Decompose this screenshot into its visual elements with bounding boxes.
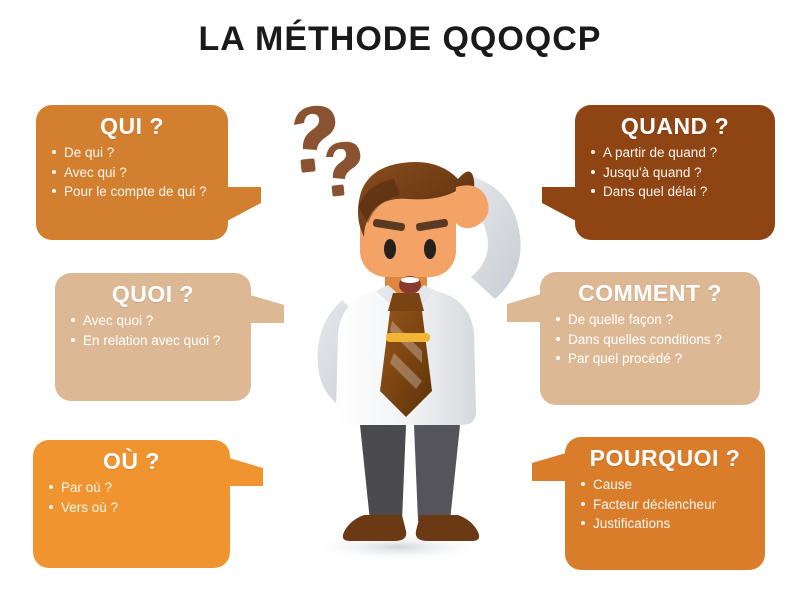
bubble-qui[interactable]: QUI ? De qui ? Avec qui ? Pour le compte… — [36, 105, 228, 240]
list-item: Vers où ? — [47, 498, 216, 517]
question-mark-small — [326, 142, 360, 197]
question-mark-large — [294, 106, 335, 173]
list-item: Avec qui ? — [50, 163, 214, 182]
shoe-left — [343, 515, 406, 541]
bubble-comment-list: De quelle façon ? Dans quelles condition… — [554, 310, 746, 367]
bubble-pourquoi-list: Cause Facteur déclencheur Justifications — [579, 475, 751, 532]
eye-left — [384, 239, 396, 259]
bubble-tail — [229, 458, 263, 486]
bubble-tail — [227, 187, 261, 221]
list-item: Dans quel délai ? — [589, 182, 761, 201]
infographic-canvas: LA MÉTHODE QQOQCP — [0, 0, 800, 600]
leg-right — [414, 425, 460, 521]
puzzled-man-illustration — [280, 95, 530, 575]
list-item: A partir de quand ? — [589, 143, 761, 162]
bubble-quoi-list: Avec quoi ? En relation avec quoi ? — [69, 311, 237, 349]
bubble-quoi-title: QUOI ? — [69, 281, 237, 307]
tooth — [401, 277, 419, 283]
bubble-tail — [250, 295, 284, 323]
list-item: Facteur déclencheur — [579, 495, 751, 514]
page-title: LA MÉTHODE QQOQCP — [0, 20, 800, 59]
bubble-qui-title: QUI ? — [50, 113, 214, 139]
bubble-pourquoi-title: POURQUOI ? — [579, 445, 751, 471]
list-item: Par quel procédé ? — [554, 349, 746, 368]
bubble-quand[interactable]: QUAND ? A partir de quand ? Jusqu'à quan… — [575, 105, 775, 240]
bubble-qui-list: De qui ? Avec qui ? Pour le compte de qu… — [50, 143, 214, 200]
eye-right — [424, 239, 436, 259]
list-item: De quelle façon ? — [554, 310, 746, 329]
list-item: Cause — [579, 475, 751, 494]
list-item: Pour le compte de qui ? — [50, 182, 214, 201]
shoe-right — [416, 515, 479, 541]
list-item: De qui ? — [50, 143, 214, 162]
list-item: Dans quelles conditions ? — [554, 330, 746, 349]
bubble-pourquoi[interactable]: POURQUOI ? Cause Facteur déclencheur Jus… — [565, 437, 765, 570]
bubble-tail — [532, 453, 566, 481]
bubble-quand-title: QUAND ? — [589, 113, 761, 139]
list-item: En relation avec quoi ? — [69, 331, 237, 350]
list-item: Jusqu'à quand ? — [589, 163, 761, 182]
list-item: Justifications — [579, 514, 751, 533]
list-item: Par où ? — [47, 478, 216, 497]
bubble-ou-list: Par où ? Vers où ? — [47, 478, 216, 516]
tie-knot — [388, 293, 424, 311]
leg-left — [360, 425, 406, 521]
list-item: Avec quoi ? — [69, 311, 237, 330]
tie-clip — [386, 333, 430, 342]
bubble-quand-list: A partir de quand ? Jusqu'à quand ? Dans… — [589, 143, 761, 200]
bubble-comment[interactable]: COMMENT ? De quelle façon ? Dans quelles… — [540, 272, 760, 405]
bubble-tail — [542, 187, 576, 221]
bubble-ou[interactable]: OÙ ? Par où ? Vers où ? — [33, 440, 230, 568]
bubble-comment-title: COMMENT ? — [554, 280, 746, 306]
bubble-quoi[interactable]: QUOI ? Avec quoi ? En relation avec quoi… — [55, 273, 251, 401]
bubble-tail — [507, 294, 541, 322]
bubble-ou-title: OÙ ? — [47, 448, 216, 474]
